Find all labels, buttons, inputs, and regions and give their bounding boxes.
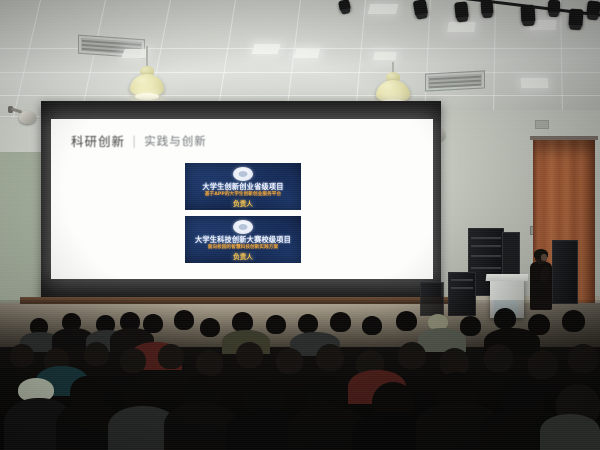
slide-content-boxes: 大学生创新创业省级项目 基于APP的大学生创新创业服务平台 负责人 大学生科技创…	[185, 163, 301, 263]
audience-head	[232, 312, 253, 332]
audience-head	[158, 344, 184, 369]
audience-head	[200, 318, 220, 337]
ac-vent	[425, 70, 485, 91]
emblem-oval-icon	[233, 220, 253, 234]
audience-head	[266, 315, 286, 334]
pendant-lamp	[127, 46, 167, 108]
audience-head	[236, 342, 263, 368]
project-card-role: 负责人	[230, 251, 256, 261]
audience-head	[84, 342, 109, 366]
speaker-cabinet	[552, 240, 578, 304]
audience-head	[10, 344, 34, 367]
emblem-oval-icon	[233, 167, 253, 181]
audience-head	[174, 310, 194, 330]
ceiling-panel-light	[373, 52, 396, 60]
audience-head	[396, 311, 417, 331]
audience-head	[528, 350, 558, 379]
ceiling-panel-light	[294, 49, 320, 58]
stage-spotlight	[548, 0, 560, 14]
audience	[0, 300, 600, 450]
ceiling-panel-light	[251, 44, 280, 54]
wall-fan-icon	[8, 104, 38, 126]
audience-shoulder	[540, 414, 600, 450]
ceiling-panel-light	[368, 4, 398, 14]
audience-head	[196, 350, 223, 376]
project-card-subheading: 基于APP的大学生创新创业服务平台	[185, 191, 301, 197]
audience-head	[316, 344, 344, 371]
audience-head	[494, 308, 516, 329]
project-card: 大学生科技创新大赛校级项目 面向校园的智慧科技创新实践方案 负责人	[185, 216, 301, 263]
stage-spotlight	[586, 0, 600, 17]
stage-spotlight	[480, 0, 493, 15]
audience-head	[484, 344, 513, 372]
ceiling-panel-light	[447, 22, 475, 32]
ceiling-panel-light	[521, 78, 549, 88]
audience-head	[120, 348, 146, 373]
audience-head	[398, 342, 426, 369]
stage-spotlight	[413, 0, 429, 17]
stage-spotlight	[521, 5, 536, 24]
project-card-subheading: 面向校园的智慧科技创新实践方案	[185, 244, 301, 250]
project-card-role: 负责人	[230, 198, 256, 208]
slide-title: 科研创新 | 实践与创新	[71, 131, 207, 150]
slide-title-sub: 实践与创新	[144, 133, 207, 149]
left-wall-panel	[0, 152, 46, 312]
stage-spotlight	[568, 9, 583, 28]
audience-head	[568, 344, 598, 373]
audience-head	[330, 312, 351, 332]
stage-spotlight	[338, 0, 351, 12]
audience-head	[298, 314, 318, 333]
project-card: 大学生创新创业省级项目 基于APP的大学生创新创业服务平台 负责人	[185, 163, 301, 210]
audience-head	[143, 314, 163, 333]
wall-vent-small	[535, 120, 549, 129]
slide-title-separator: |	[132, 133, 137, 148]
slide-title-main: 科研创新	[71, 131, 125, 150]
audience-head	[276, 348, 303, 374]
audience-head	[562, 310, 585, 332]
stage-spotlight	[454, 1, 469, 19]
audience-head	[362, 316, 382, 335]
lecture-hall-photo: 科研创新 | 实践与创新 大学生创新创业省级项目 基于APP的大学生创新创业服务…	[0, 0, 600, 450]
projection-screen: 科研创新 | 实践与创新 大学生创新创业省级项目 基于APP的大学生创新创业服务…	[51, 119, 433, 279]
